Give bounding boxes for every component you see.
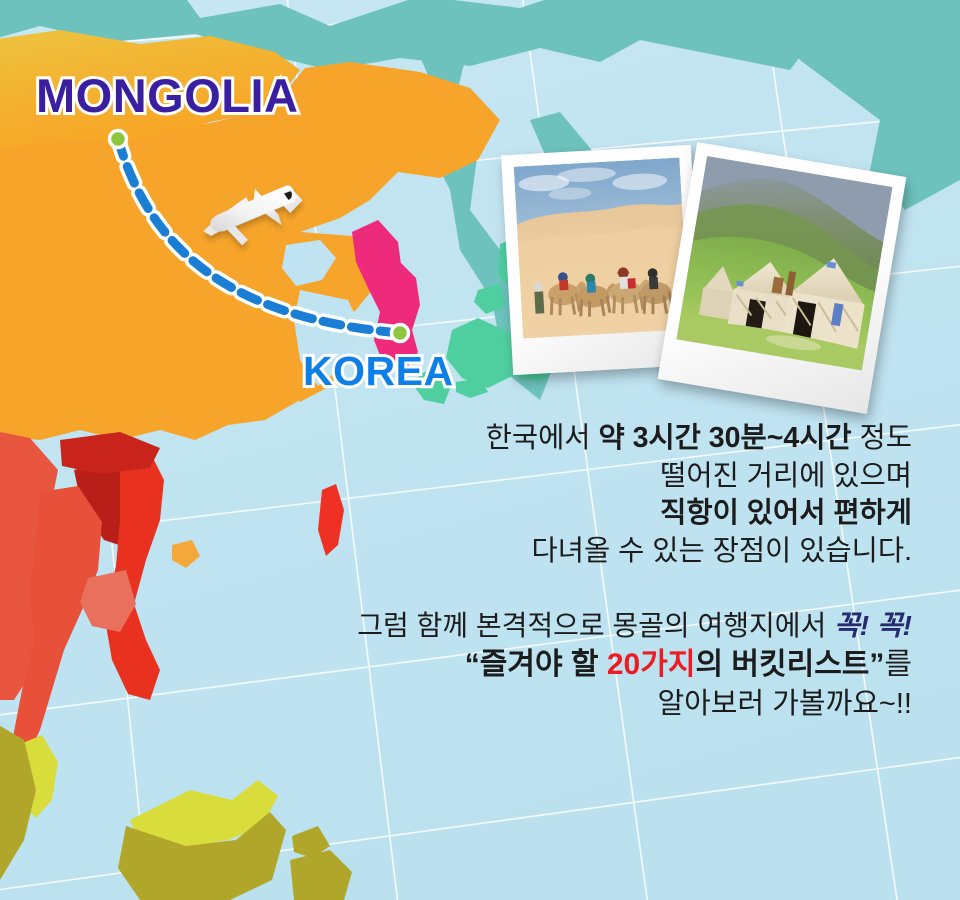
plane-fuselage (208, 165, 299, 253)
photo-camels-image (514, 158, 689, 339)
p2-line1-accent: 꼭! 꼭! (834, 610, 912, 641)
p2-line3: 알아보러 가볼까요~!! (312, 685, 912, 723)
paragraph-bucket-list: 그럼 함께 본격적으로 몽골의 여행지에서 꼭! 꼭! “즐겨야 할 20가지의… (312, 608, 912, 723)
p1-line1-pre: 한국에서 (486, 422, 599, 454)
map-label-korea: KOREA (303, 351, 454, 392)
p2-line1: 그럼 함께 본격적으로 몽골의 여행지에서 꼭! 꼭! (312, 608, 912, 645)
p1-line1-bold: 약 3시간 30분~4시간 (598, 422, 851, 454)
promo-stage: MONGOLIA KOREA 한국에서 약 3시간 30분~4시간 정도 떨어진… (0, 0, 960, 900)
p1-line1-post: 정도 (852, 422, 912, 454)
photo-ger-camp-steppe (658, 142, 907, 414)
p2-line1-pre: 그럼 함께 본격적으로 몽골의 여행지에서 (357, 610, 834, 641)
p1-line2: 떨어진 거리에 있으며 (312, 458, 912, 496)
promo-copy: 한국에서 약 3시간 30분~4시간 정도 떨어진 거리에 있으며 직항이 있어… (312, 420, 912, 723)
p2-line2-tail: 를 (884, 648, 912, 681)
photo-yurts-image (676, 156, 892, 370)
p2-line2-count: 20가지 (607, 648, 696, 681)
p2-line3-text: 알아보러 가볼까요~!! (657, 688, 912, 720)
p2-line2-open: “즐겨야 할 (465, 648, 607, 681)
paragraph-flight-time: 한국에서 약 3시간 30분~4시간 정도 떨어진 거리에 있으며 직항이 있어… (312, 420, 912, 570)
map-label-mongolia-text: MONGOLIA (36, 69, 298, 122)
p1-line1: 한국에서 약 3시간 30분~4시간 정도 (312, 420, 912, 458)
p1-line3: 직항이 있어서 편하게 (312, 495, 912, 533)
p1-line4: 다녀올 수 있는 장점이 있습니다. (312, 533, 912, 571)
p2-line2-rest: 의 버킷리스트” (695, 648, 884, 681)
p2-line2: “즐겨야 할 20가지의 버킷리스트”를 (312, 645, 912, 685)
map-label-mongolia: MONGOLIA (36, 72, 298, 119)
map-label-korea-text: KOREA (303, 348, 454, 394)
